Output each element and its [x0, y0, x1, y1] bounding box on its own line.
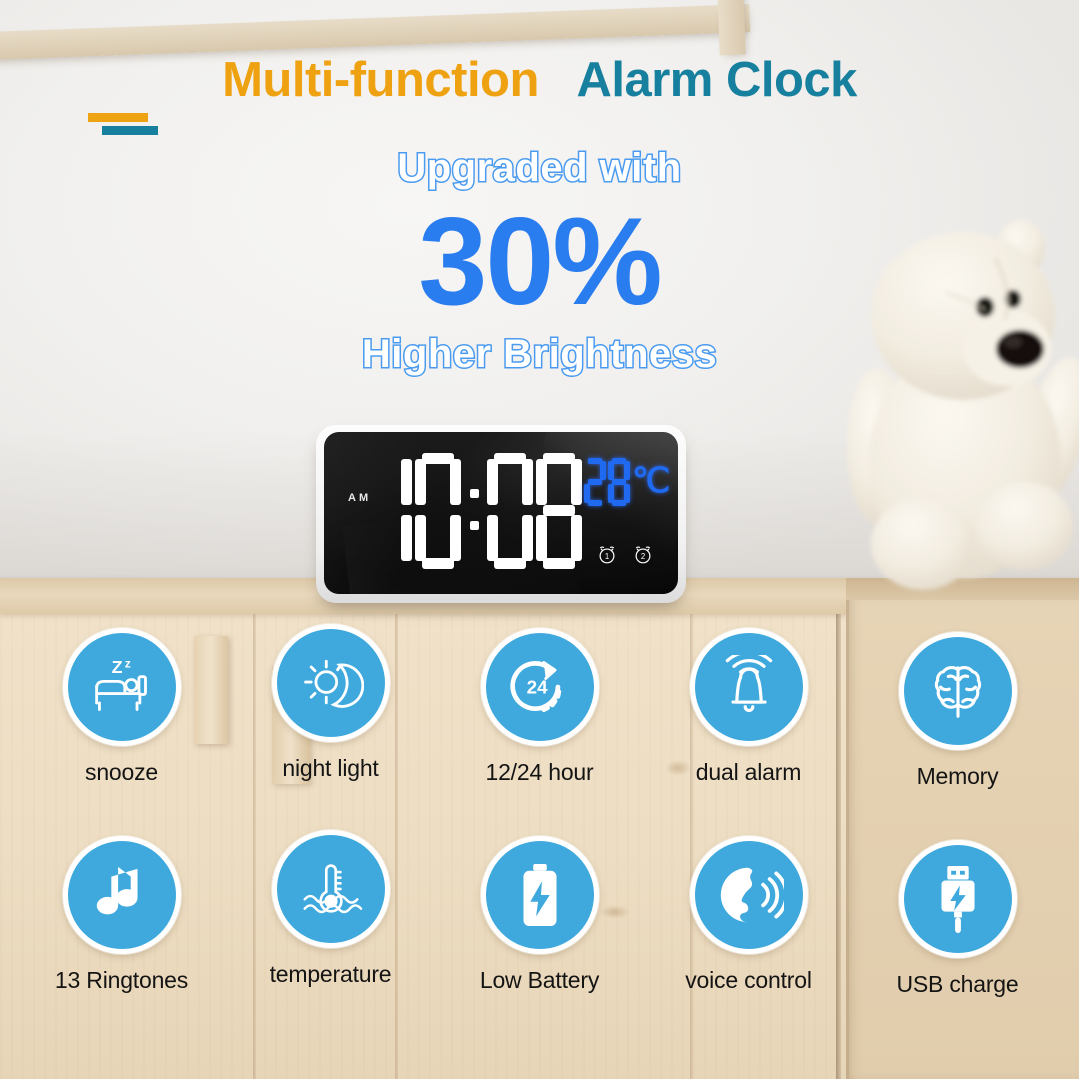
- feature-label: dual alarm: [661, 759, 836, 786]
- alarm-clock-device: AM: [316, 425, 686, 603]
- feature-icon-circle: [63, 836, 181, 954]
- bed-zzz-icon: Z z: [89, 656, 155, 718]
- feature-12-24-hour[interactable]: 24 12/24 hour: [452, 628, 627, 790]
- feature-snooze[interactable]: Z z snooze: [34, 628, 209, 790]
- title-part-1: Multi-function: [222, 53, 539, 107]
- picture-frame-side-edge: [716, 0, 745, 55]
- svg-text:Z: Z: [111, 657, 122, 677]
- feature-row-1: Z z snooze: [0, 628, 1079, 790]
- digit-hour-tens: [366, 453, 412, 569]
- feature-label: 13 Ringtones: [34, 967, 209, 994]
- feature-icon-circle: [481, 836, 599, 954]
- alarm-1-indicator-icon: 1: [596, 544, 618, 566]
- face-soundwave-icon: [714, 864, 784, 926]
- feature-icon-circle: [690, 836, 808, 954]
- feature-label: Memory: [870, 763, 1045, 790]
- usb-plug-bolt-icon: [933, 864, 983, 934]
- clock-24-arrow-icon: 24: [506, 654, 574, 720]
- feature-label: night light: [243, 755, 418, 782]
- alarm-2-indicator-icon: 2: [632, 544, 654, 566]
- feature-dual-alarm[interactable]: dual alarm: [661, 628, 836, 790]
- music-note-icon: [94, 863, 150, 927]
- svg-text:1: 1: [605, 552, 609, 561]
- page-title: Multi-function Alarm Clock: [0, 52, 1079, 108]
- feature-icon-circle: [272, 830, 390, 948]
- brain-icon: [927, 660, 989, 722]
- feature-label: 12/24 hour: [452, 759, 627, 786]
- ringing-bell-icon: [716, 655, 782, 719]
- time-display: [366, 453, 582, 569]
- svg-text:2: 2: [641, 552, 645, 561]
- feature-label: USB charge: [870, 971, 1045, 998]
- digit-minute-ones: [536, 453, 582, 569]
- digit-minute-tens: [487, 453, 533, 569]
- feature-label: snooze: [34, 759, 209, 786]
- feature-icon-circle: Z z: [63, 628, 181, 746]
- feature-icon-circle: [690, 628, 808, 746]
- thermometer-waves-icon: [297, 858, 365, 920]
- title-underline-teal: [102, 126, 158, 135]
- temperature-display: ℃: [584, 458, 656, 506]
- promo-percentage: 30%: [0, 196, 1079, 330]
- feature-usb-charge[interactable]: USB charge: [870, 836, 1045, 998]
- clock-display-screen: AM: [324, 432, 678, 594]
- feature-voice-control[interactable]: voice control: [661, 836, 836, 998]
- feature-row-2: 13 Ringtones temperature: [0, 836, 1079, 998]
- title-underline-orange: [88, 113, 148, 122]
- feature-memory[interactable]: Memory: [870, 628, 1045, 790]
- temperature-unit: ℃: [632, 458, 656, 506]
- promo-top-line: Upgraded with: [0, 148, 1079, 188]
- sun-moon-icon: [298, 650, 364, 716]
- svg-text:z: z: [124, 656, 130, 670]
- svg-text:24: 24: [526, 677, 547, 698]
- feature-grid: Z z snooze: [0, 628, 1079, 998]
- temp-digit-ones: [608, 458, 630, 506]
- title-part-2: Alarm Clock: [576, 53, 856, 107]
- feature-label: temperature: [243, 961, 418, 988]
- feature-icon-circle: [272, 624, 390, 742]
- promo-bottom-line: Higher Brightness: [0, 334, 1079, 374]
- battery-bolt-icon: [517, 862, 563, 928]
- feature-icon-circle: [899, 632, 1017, 750]
- digit-hour-ones: [415, 453, 461, 569]
- promo-block: Upgraded with 30% Higher Brightness: [0, 148, 1079, 374]
- time-colon: [464, 453, 484, 569]
- feature-low-battery[interactable]: Low Battery: [452, 836, 627, 998]
- feature-label: voice control: [661, 967, 836, 994]
- feature-temperature[interactable]: temperature: [243, 836, 418, 998]
- feature-13-ringtones[interactable]: 13 Ringtones: [34, 836, 209, 998]
- product-infographic: Multi-function Alarm Clock Upgraded with…: [0, 0, 1079, 1079]
- feature-label: Low Battery: [452, 967, 627, 994]
- feature-icon-circle: [899, 840, 1017, 958]
- feature-night-light[interactable]: night light: [243, 628, 418, 790]
- feature-icon-circle: 24: [481, 628, 599, 746]
- temp-digit-tens: [584, 458, 606, 506]
- alarm-indicators: 1 2: [596, 544, 654, 566]
